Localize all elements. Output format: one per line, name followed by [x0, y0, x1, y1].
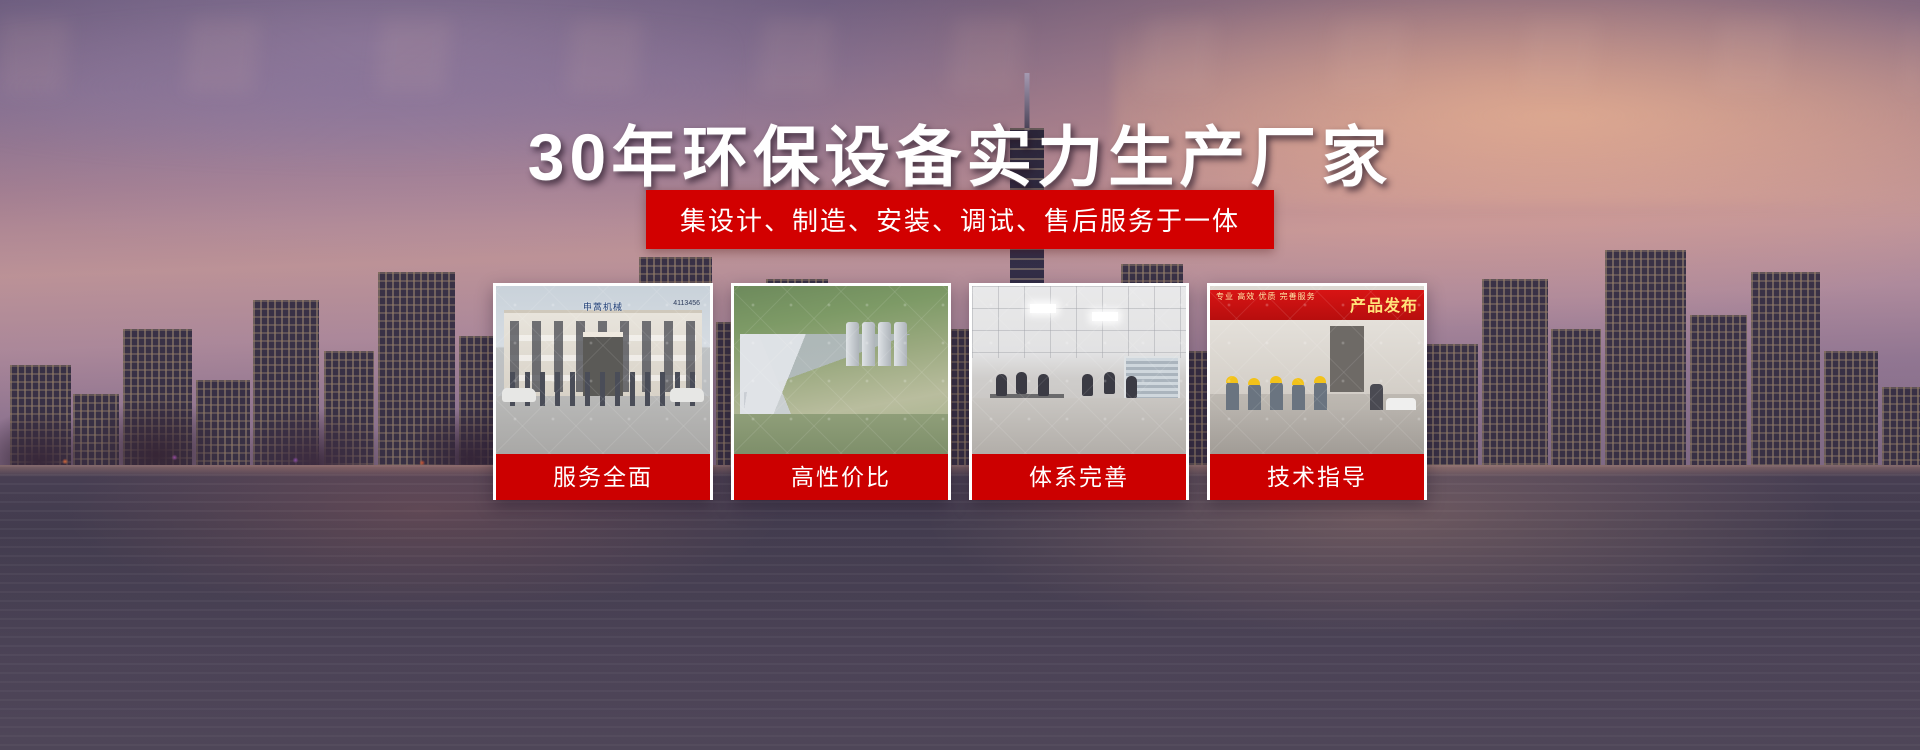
feature-card[interactable]: 申蒿机械 4113456 服务全面	[493, 283, 713, 500]
worker	[1270, 382, 1283, 412]
office-floor	[972, 398, 1186, 454]
safety-helmet	[1314, 376, 1326, 383]
workshop-banner-text: 产品发布	[1350, 292, 1418, 316]
parked-car	[670, 388, 704, 402]
workshop-door	[1330, 326, 1364, 392]
banner-headline: 30年环保设备实力生产厂家	[0, 104, 1920, 200]
storage-silo	[894, 322, 907, 366]
safety-helmet	[1226, 376, 1238, 383]
company-logo-watermark: 申蒿机械	[583, 300, 623, 313]
suspended-ceiling	[972, 286, 1186, 358]
feature-card[interactable]: 产品发布 专业 高效 优质 完善服务	[1207, 283, 1427, 500]
safety-helmet	[1292, 378, 1304, 385]
feature-card[interactable]: 高性价比	[731, 283, 951, 500]
storage-silo	[846, 322, 859, 366]
worker	[1226, 382, 1239, 412]
workshop-slogan: 专业 高效 优质 完善服务	[1216, 292, 1316, 302]
workshop-workers-with-red-banner-photo: 产品发布 专业 高效 优质 完善服务	[1210, 286, 1424, 454]
seated-employee	[1126, 376, 1137, 398]
plant-yard	[734, 414, 948, 454]
parked-car	[502, 388, 536, 402]
feature-card-label: 体系完善	[972, 454, 1186, 500]
feature-card[interactable]: 体系完善	[969, 283, 1189, 500]
seated-employee	[1038, 374, 1049, 396]
office-interior-with-workstations-photo	[972, 286, 1186, 454]
ceiling-light	[1092, 312, 1118, 321]
company-office-building-with-staff-photo: 申蒿机械 4113456	[496, 286, 710, 454]
workshop-floor	[1210, 410, 1424, 454]
feature-card-label: 技术指导	[1210, 454, 1424, 500]
feature-card-label: 高性价比	[734, 454, 948, 500]
banner-content: 30年环保设备实力生产厂家 集设计、制造、安装、调试、售后服务于一体 申蒿机械 …	[0, 0, 1920, 750]
safety-helmet	[1270, 376, 1282, 383]
staff-row	[510, 372, 696, 406]
feature-card-label: 服务全面	[496, 454, 710, 500]
seated-employee	[1104, 372, 1115, 394]
worker	[1314, 382, 1327, 412]
storage-silo	[878, 322, 891, 366]
banner-subtitle-bar: 集设计、制造、安装、调试、售后服务于一体	[646, 190, 1274, 249]
ceiling-light	[1030, 304, 1056, 313]
hero-banner: 30年环保设备实力生产厂家 集设计、制造、安装、调试、售后服务于一体 申蒿机械 …	[0, 0, 1920, 750]
safety-helmet	[1248, 378, 1260, 385]
seated-employee	[1016, 372, 1027, 394]
seated-employee	[1082, 374, 1093, 396]
storage-silo	[862, 322, 875, 366]
aerial-view-industrial-plant-photo	[734, 286, 948, 454]
photo-code-watermark: 4113456	[673, 300, 700, 307]
seated-employee	[996, 374, 1007, 396]
feature-card-list: 申蒿机械 4113456 服务全面	[493, 283, 1427, 500]
